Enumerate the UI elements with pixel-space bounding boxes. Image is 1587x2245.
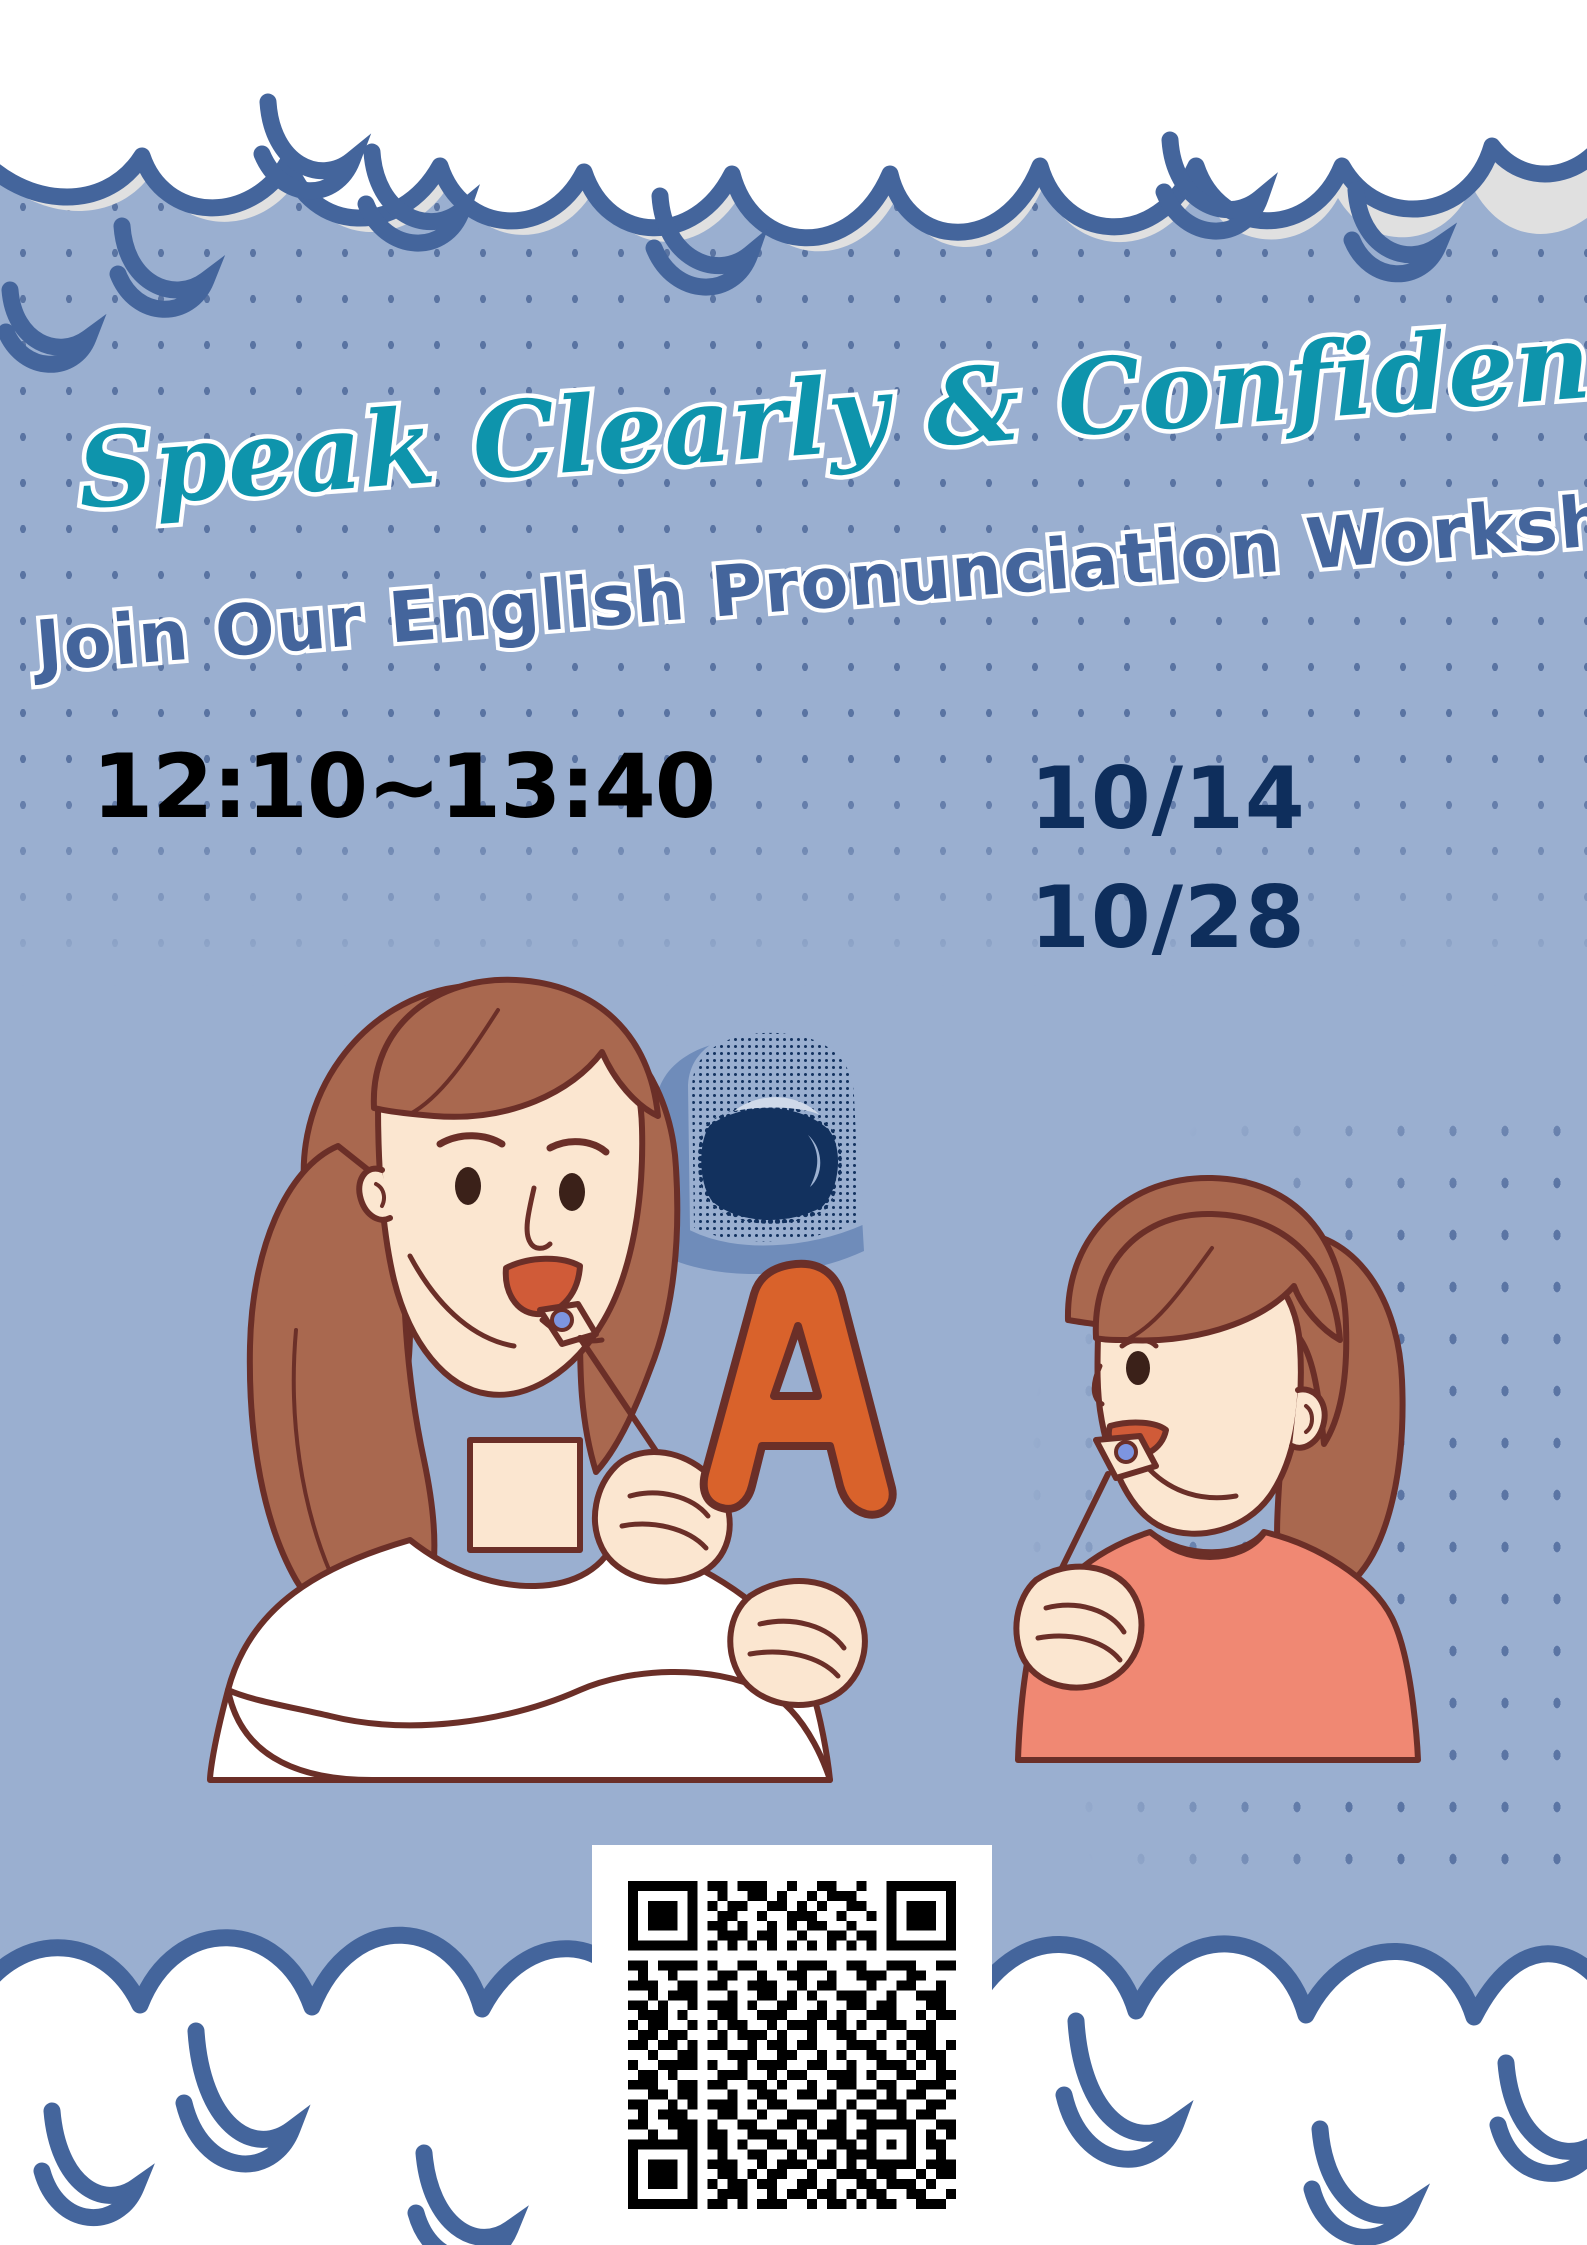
workshop-dates: 10/14 10/28 <box>1030 740 1306 977</box>
woman-illustration <box>110 900 930 1780</box>
qr-code-card[interactable] <box>592 1845 992 2245</box>
workshop-date-1: 10/14 <box>1030 740 1306 859</box>
poster-canvas: Speak Clearly & Confidently! Join Our En… <box>0 0 1587 2245</box>
girl-illustration <box>950 1140 1430 1760</box>
workshop-date-2: 10/28 <box>1030 859 1306 978</box>
page-title: Speak Clearly & Confidently! <box>74 295 1587 524</box>
workshop-time: 12:10~13:40 <box>92 735 715 838</box>
headline-block: Speak Clearly & Confidently! Join Our En… <box>0 0 1587 780</box>
qr-code[interactable] <box>628 1881 956 2209</box>
